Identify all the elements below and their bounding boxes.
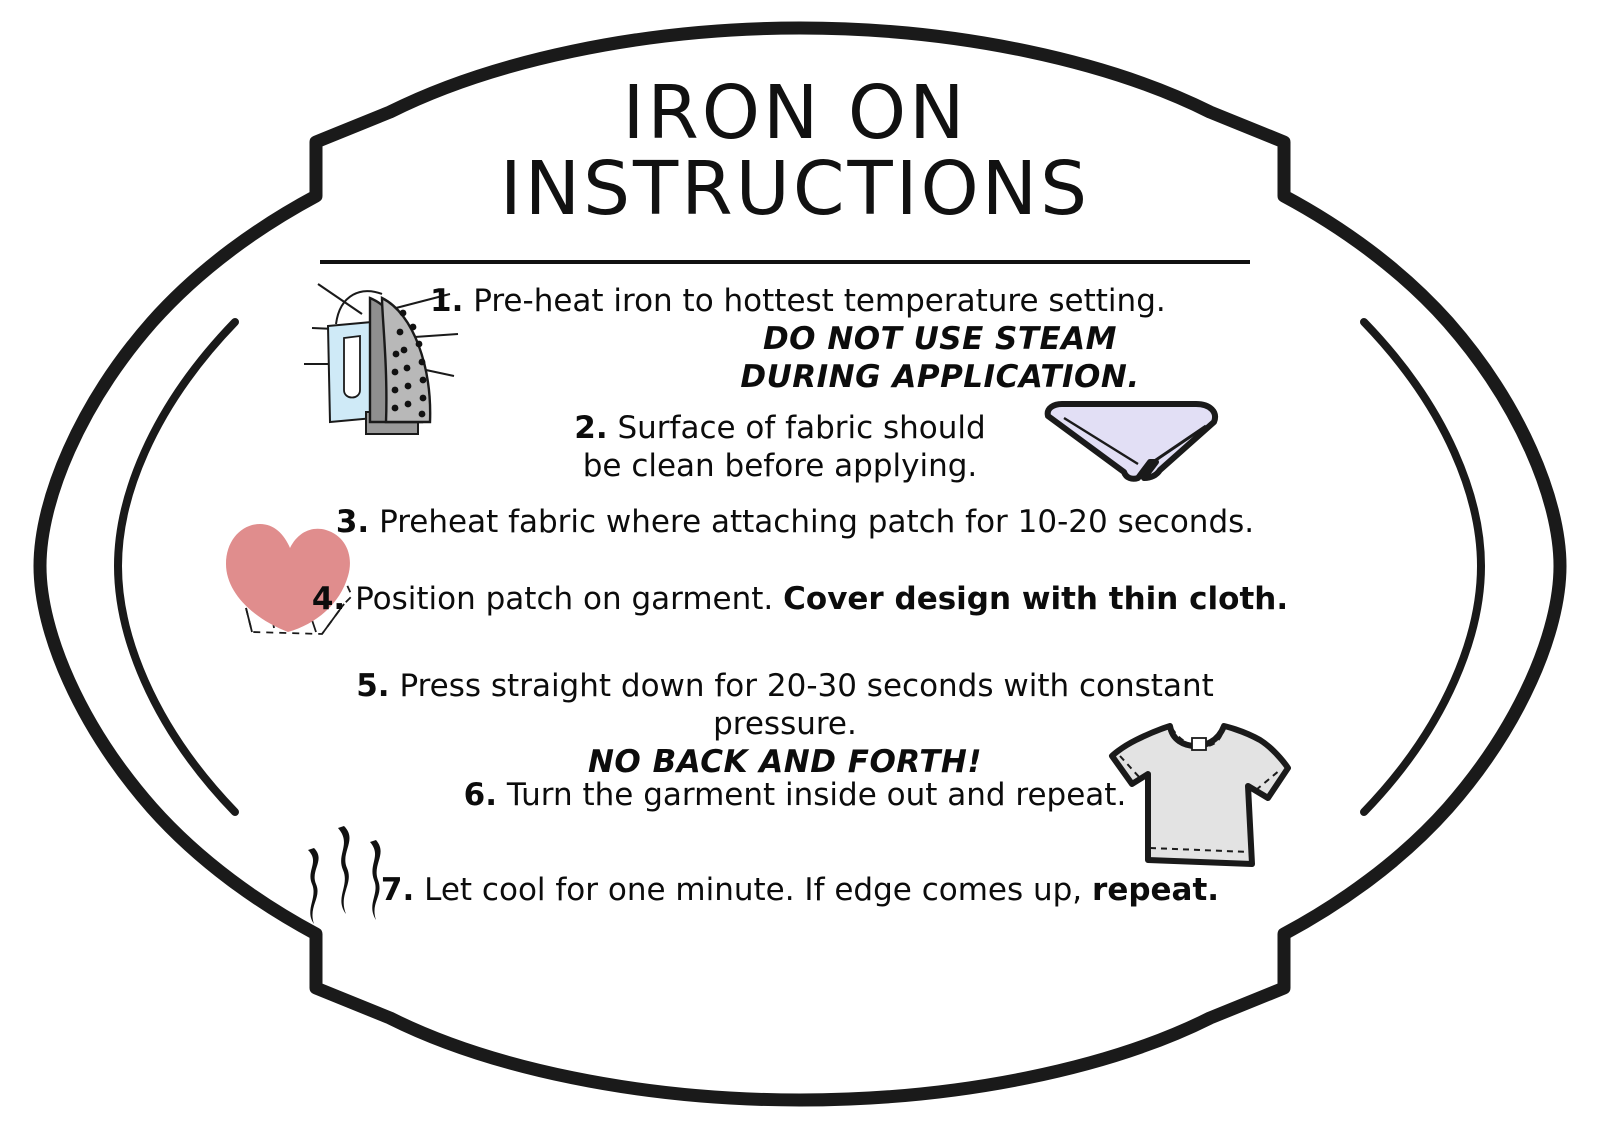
step-3-number: 3. (336, 504, 369, 540)
step-4-text: Position patch on garment. (355, 581, 773, 617)
step-1-emphasis-line-2: DURING APPLICATION. (430, 359, 1420, 397)
step-2-text-line-2: be clean before applying. (583, 448, 978, 484)
page-title-line-2: INSTRUCTIONS (300, 154, 1290, 226)
instruction-step-4: 4. Position patch on garment. Cover desi… (300, 581, 1300, 619)
instruction-step-5: 5. Press straight down for 20-30 seconds… (280, 668, 1290, 781)
title-divider-rule (320, 260, 1250, 264)
step-6-number: 6. (464, 777, 497, 813)
step-4-bold-text: Cover design with thin cloth. (783, 581, 1288, 617)
step-5-emphasis: NO BACK AND FORTH! (280, 744, 1290, 782)
step-4-number: 4. (312, 581, 345, 617)
instruction-step-7: 7. Let cool for one minute. If edge come… (300, 872, 1300, 910)
step-2-number: 2. (574, 410, 607, 446)
step-7-number: 7. (381, 872, 414, 908)
iron-on-instructions-page: IRON ON INSTRUCTIONS (0, 0, 1599, 1127)
step-3-text: Preheat fabric where attaching patch for… (379, 504, 1254, 540)
step-7-bold-text: repeat. (1092, 872, 1219, 908)
instruction-step-3: 3. Preheat fabric where attaching patch … (300, 504, 1290, 542)
step-1-text: Pre-heat iron to hottest temperature set… (473, 283, 1166, 319)
step-1-emphasis-line-1: DO NOT USE STEAM (430, 321, 1420, 359)
step-5-text: Press straight down for 20-30 seconds wi… (399, 668, 1213, 742)
instruction-step-6: 6. Turn the garment inside out and repea… (300, 777, 1290, 815)
step-5-number: 5. (356, 668, 389, 704)
step-7-text: Let cool for one minute. If edge comes u… (424, 872, 1082, 908)
page-title-line-1: IRON ON (300, 78, 1290, 150)
step-1-number: 1. (430, 283, 463, 319)
page-title: IRON ON INSTRUCTIONS (300, 78, 1290, 226)
instruction-step-2: 2. Surface of fabric should be clean bef… (560, 410, 1000, 486)
folded-fabric-body (1048, 404, 1215, 479)
step-6-text: Turn the garment inside out and repeat. (507, 777, 1126, 813)
instruction-step-1: 1. Pre-heat iron to hottest temperature … (300, 283, 1420, 396)
step-2-text-line-1: Surface of fabric should (617, 410, 985, 446)
